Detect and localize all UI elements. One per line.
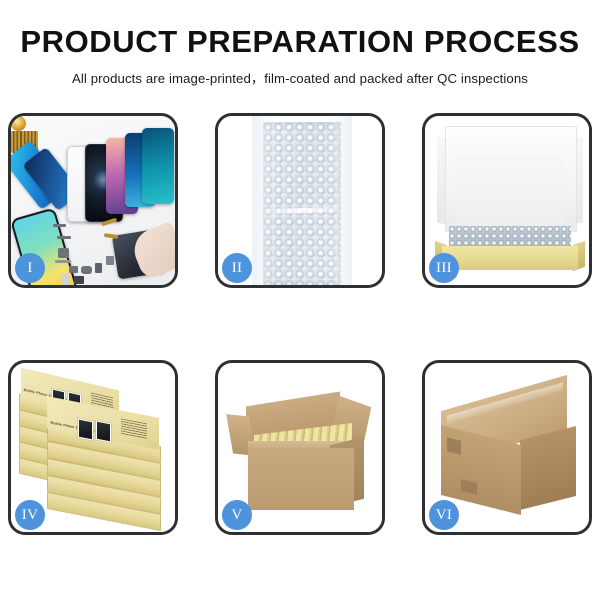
page-title: PRODUCT PREPARATION PROCESS — [0, 26, 600, 59]
process-step-panel-2: II — [215, 113, 385, 288]
process-step-panel-5: V — [215, 360, 385, 535]
process-step-panel-4: Mobile Phone Spare Parts Mobile Phone Sp… — [8, 360, 178, 535]
box-label-screen-front-2 — [95, 419, 112, 443]
box-label-screen-front-1 — [77, 417, 94, 441]
step-badge-3: III — [429, 253, 459, 283]
part-block-7 — [74, 276, 84, 284]
part-block-3 — [81, 266, 92, 274]
page-subtitle: All products are image-printed，film-coat… — [0, 68, 600, 87]
process-step-panel-3: III — [422, 113, 592, 288]
part-block-4 — [95, 263, 102, 273]
part-block-1 — [58, 248, 69, 258]
step-badge-6: VI — [429, 500, 459, 530]
carton-front-panel — [248, 448, 354, 510]
step-badge-2: II — [222, 253, 252, 283]
part-strip-2 — [57, 236, 71, 239]
step-badge-4: IV — [15, 500, 45, 530]
process-step-panel-6: VI — [422, 360, 592, 535]
phone-teal-gradient — [142, 128, 174, 204]
step-badge-1: I — [15, 253, 45, 283]
step-badge-5: V — [222, 500, 252, 530]
sealed-carton-side — [520, 426, 576, 510]
part-strip-1 — [53, 224, 66, 227]
bubble-wrap-backdrop — [252, 116, 352, 285]
page-header: PRODUCT PREPARATION PROCESS All products… — [0, 0, 600, 87]
box-lid-inner-panel — [456, 157, 564, 229]
gold-component-icon — [11, 116, 26, 131]
part-strip-3 — [55, 260, 71, 263]
process-panel-grid: I II III — [8, 113, 592, 535]
bubble-wrapped-contents — [449, 226, 571, 248]
part-block-2 — [69, 266, 78, 273]
flex-cable-2 — [104, 233, 118, 239]
part-block-6 — [62, 274, 69, 285]
process-step-panel-1: I — [8, 113, 178, 288]
part-block-5 — [106, 256, 114, 265]
box-front-panel — [442, 246, 578, 270]
